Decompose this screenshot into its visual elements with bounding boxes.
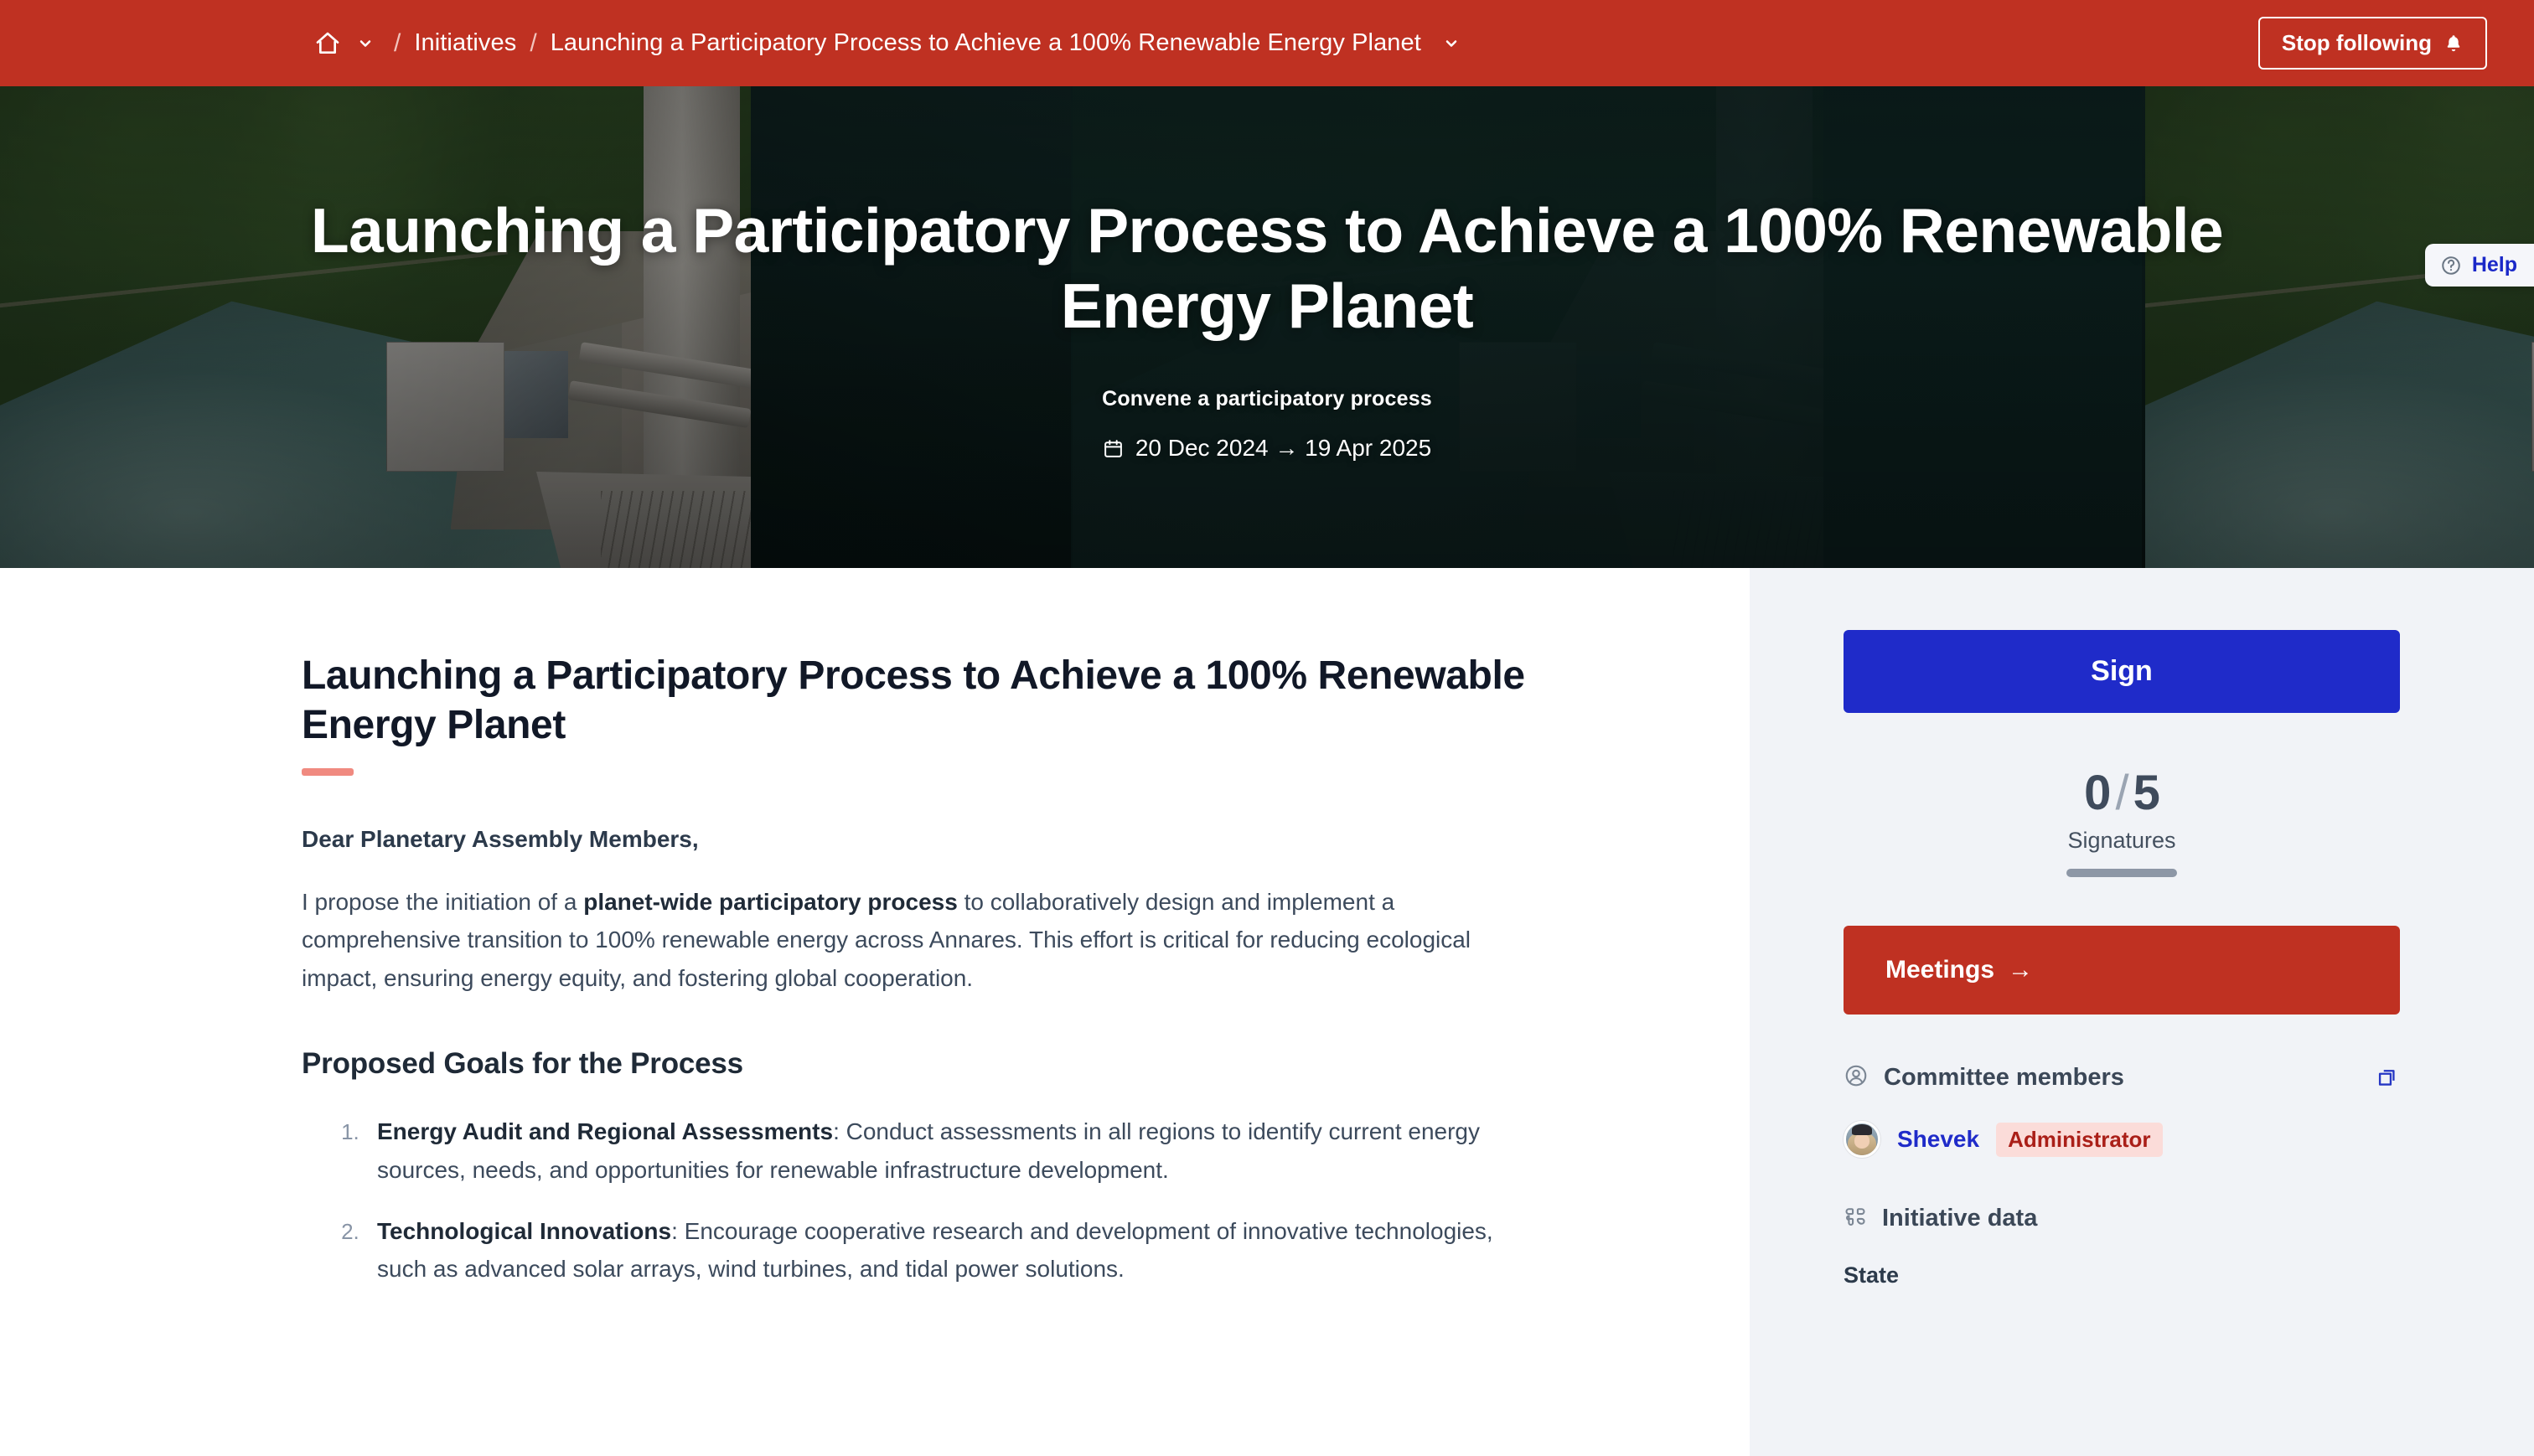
hero-title: Launching a Participatory Process to Ach… <box>303 193 2231 343</box>
list-item: Technological Innovations: Encourage coo… <box>365 1212 1525 1288</box>
committee-members-header: Committee members <box>1844 1063 2400 1092</box>
question-circle-icon <box>2440 255 2462 276</box>
list-item[interactable]: Shevek Administrator <box>1844 1121 2400 1158</box>
sidebar: Sign 0/5 Signatures Meetings → Committee… <box>1750 568 2534 1456</box>
meetings-button[interactable]: Meetings → <box>1844 926 2400 1015</box>
grid-dots-icon <box>1844 1205 1867 1232</box>
status-badge: Administrator <box>1996 1123 2162 1157</box>
home-dropdown-chevron-down-icon[interactable] <box>350 28 380 59</box>
initiative-data-title: Initiative data <box>1882 1205 2037 1232</box>
copy-icon[interactable] <box>2376 1066 2400 1090</box>
page-title: Launching a Participatory Process to Ach… <box>302 652 1540 750</box>
member-name-link[interactable]: Shevek <box>1897 1126 1979 1153</box>
breadcrumb-item-initiatives[interactable]: Initiatives <box>414 29 516 57</box>
calendar-icon <box>1103 438 1124 459</box>
list-item: Energy Audit and Regional Assessments: C… <box>365 1113 1525 1189</box>
initiative-data-header: Initiative data <box>1844 1205 2400 1232</box>
state-label: State <box>1844 1262 2400 1288</box>
meetings-label: Meetings <box>1885 956 1994 984</box>
hero-date-range: 20 Dec 2024 → 19 Apr 2025 <box>1103 435 1431 462</box>
breadcrumb-separator-2: / <box>530 29 536 58</box>
signatures-block: 0/5 Signatures <box>1844 765 2400 877</box>
breadcrumb-separator-1: / <box>394 29 401 58</box>
intro-before: I propose the initiation of a <box>302 889 583 915</box>
intro-paragraph: I propose the initiation of a planet-wid… <box>302 883 1500 997</box>
page-body: Launching a Participatory Process to Ach… <box>0 568 2534 1456</box>
committee-members-title: Committee members <box>1884 1064 2124 1092</box>
breadcrumb: / Initiatives / Launching a Participator… <box>310 0 1466 86</box>
help-label: Help <box>2472 253 2517 277</box>
stop-following-label: Stop following <box>2282 30 2432 56</box>
breadcrumb-item-current: Launching a Participatory Process to Ach… <box>551 29 1421 57</box>
goal-1-bold: Energy Audit and Regional Assessments <box>377 1118 833 1144</box>
salutation-text: Dear Planetary Assembly Members, <box>302 826 1540 853</box>
avatar <box>1844 1121 1880 1158</box>
goal-2-bold: Technological Innovations <box>377 1218 671 1244</box>
breadcrumb-current-chevron-down-icon[interactable] <box>1436 28 1466 59</box>
section-heading-goals: Proposed Goals for the Process <box>302 1047 1540 1081</box>
stop-following-button[interactable]: Stop following <box>2258 17 2487 70</box>
hero-banner: Launching a Participatory Process to Ach… <box>0 86 2534 568</box>
signatures-current: 0 <box>2084 766 2110 820</box>
hero-content: Launching a Participatory Process to Ach… <box>0 86 2534 568</box>
intro-bold: planet-wide participatory process <box>583 889 958 915</box>
signatures-goal: 5 <box>2133 766 2159 820</box>
hero-date-range-text: 20 Dec 2024 → 19 Apr 2025 <box>1135 435 1431 462</box>
main-content: Launching a Participatory Process to Ach… <box>0 568 1750 1456</box>
bell-icon <box>2443 33 2464 54</box>
home-icon[interactable] <box>310 26 345 61</box>
signatures-progress-bar <box>2066 869 2177 877</box>
top-navigation-bar: / Initiatives / Launching a Participator… <box>0 0 2534 86</box>
goals-list: Energy Audit and Regional Assessments: C… <box>302 1113 1525 1288</box>
hero-subtitle: Convene a participatory process <box>1102 387 1432 411</box>
title-accent-rule <box>302 768 354 776</box>
help-button[interactable]: Help <box>2425 244 2534 287</box>
sign-button[interactable]: Sign <box>1844 630 2400 713</box>
arrow-right-icon: → <box>2008 956 2033 984</box>
signatures-label: Signatures <box>1844 828 2400 854</box>
signatures-count: 0/5 <box>1844 765 2400 821</box>
signatures-slash: / <box>2110 766 2133 820</box>
user-circle-icon <box>1844 1063 1869 1092</box>
